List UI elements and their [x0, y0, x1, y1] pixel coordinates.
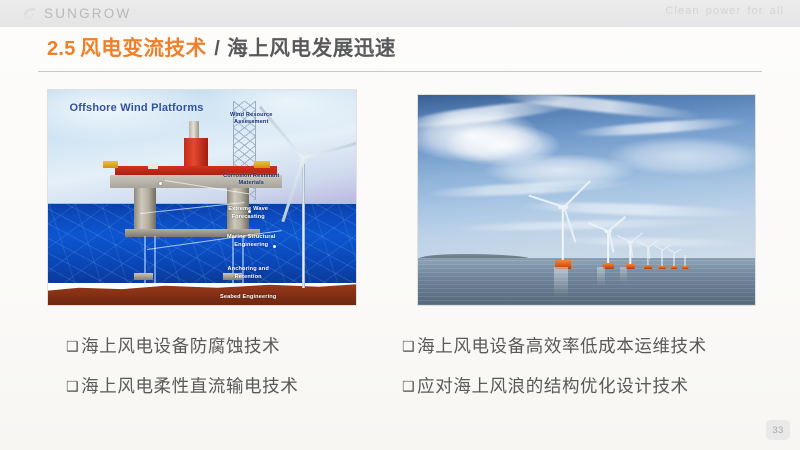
bullet-text: 海上风电柔性直流输电技术 — [81, 373, 298, 398]
diagram-label-wind-resource-assessment: Wind Resource Assessment — [196, 112, 307, 127]
diagram-label-marine-structural-engineering: Marine Structural Engineering — [187, 234, 316, 249]
brand-name: SUNGROW — [44, 4, 131, 23]
diagram-label-seabed-engineering: Seabed Engineering — [174, 294, 322, 302]
bullet-square-icon: ❑ — [66, 379, 79, 393]
rig-tendon — [154, 236, 156, 283]
bullet-column-left: ❑ 海上风电设备防腐蚀技术 ❑ 海上风电柔性直流输电技术 — [66, 333, 396, 413]
bullet-text: 海上风电设备高效率低成本运维技术 — [417, 333, 707, 358]
slide-canvas: SUNGROW Clean power for all 2.5 风电变流技术 /… — [0, 0, 800, 450]
turbine-reflection — [554, 267, 567, 296]
diagram-heading: Offshore Wind Platforms — [70, 101, 204, 115]
bullet-item: ❑ 应对海上风浪的结构优化设计技术 — [402, 373, 772, 413]
turbine-foundation — [659, 266, 665, 270]
rig-module — [148, 164, 158, 170]
bullet-item: ❑ 海上风电设备高效率低成本运维技术 — [402, 333, 772, 373]
cloud — [607, 137, 755, 175]
title-subtitle: 海上风电发展迅速 — [227, 37, 396, 60]
turbine-reflection — [597, 267, 605, 286]
title-main-text: 风电变流技术 — [80, 37, 207, 60]
title-separator: / — [211, 38, 223, 60]
turbine-blade — [563, 207, 576, 243]
title-number: 2.5 — [47, 38, 76, 60]
diagram-label-corrosion-resistant-materials: Corrosion Resistant Materials — [190, 173, 313, 188]
turbine-blade — [529, 195, 565, 208]
bullet-square-icon: ❑ — [402, 379, 415, 393]
photo-turbine — [677, 251, 692, 267]
bullet-text: 应对海上风浪的结构优化设计技术 — [417, 373, 689, 398]
turbine-mast — [662, 250, 663, 267]
bullet-square-icon: ❑ — [66, 339, 79, 353]
rig-derrick — [184, 138, 208, 168]
brand-logo: SUNGROW — [22, 4, 131, 23]
turbine-foundation — [671, 266, 677, 269]
header-bar: SUNGROW Clean power for all — [0, 0, 800, 27]
turbine-reflection — [620, 267, 627, 282]
offshore-wind-farm-photo — [418, 95, 755, 305]
turbine-blade — [630, 242, 633, 257]
bullet-item: ❑ 海上风电设备防腐蚀技术 — [66, 333, 396, 373]
rig-anchor-block-left — [134, 273, 153, 280]
sungrow-logo-icon — [22, 6, 37, 21]
turbine-foundation — [644, 265, 652, 269]
rig-column-left — [134, 188, 156, 231]
diagram-label-extreme-wave-forecasting: Extreme Wave Forecasting — [193, 206, 304, 221]
turbine-mast — [562, 207, 565, 260]
diagram-canvas: Offshore Wind Platforms Wind Resource As… — [48, 90, 356, 305]
bullet-text: 海上风电设备防腐蚀技术 — [81, 333, 280, 358]
page-title: 2.5 风电变流技术 / 海上风电发展迅速 — [47, 39, 396, 60]
bullet-square-icon: ❑ — [402, 339, 415, 353]
turbine-foundation — [682, 266, 687, 269]
diagram-label-anchoring-and-retention: Anchoring and Retention — [193, 266, 304, 281]
turbine-blade — [588, 222, 609, 232]
photo-turbine-main — [533, 194, 594, 268]
turbine-blade — [648, 247, 650, 259]
offshore-wind-platforms-diagram: Offshore Wind Platforms Wind Resource As… — [48, 90, 356, 305]
turbine-foundation — [626, 264, 634, 269]
bullet-column-right: ❑ 海上风电设备高效率低成本运维技术 ❑ 应对海上风浪的结构优化设计技术 — [402, 333, 772, 413]
turbine-mast — [685, 255, 686, 267]
rig-crane-left — [103, 161, 119, 168]
rig-crane-right — [254, 161, 270, 168]
brand-tagline: Clean power for all — [665, 5, 784, 17]
title-divider — [38, 71, 762, 72]
page-number-badge: 33 — [766, 420, 790, 440]
photo-canvas — [418, 95, 755, 305]
turbine-blade — [608, 231, 614, 253]
bullet-item: ❑ 海上风电柔性直流输电技术 — [66, 373, 396, 413]
